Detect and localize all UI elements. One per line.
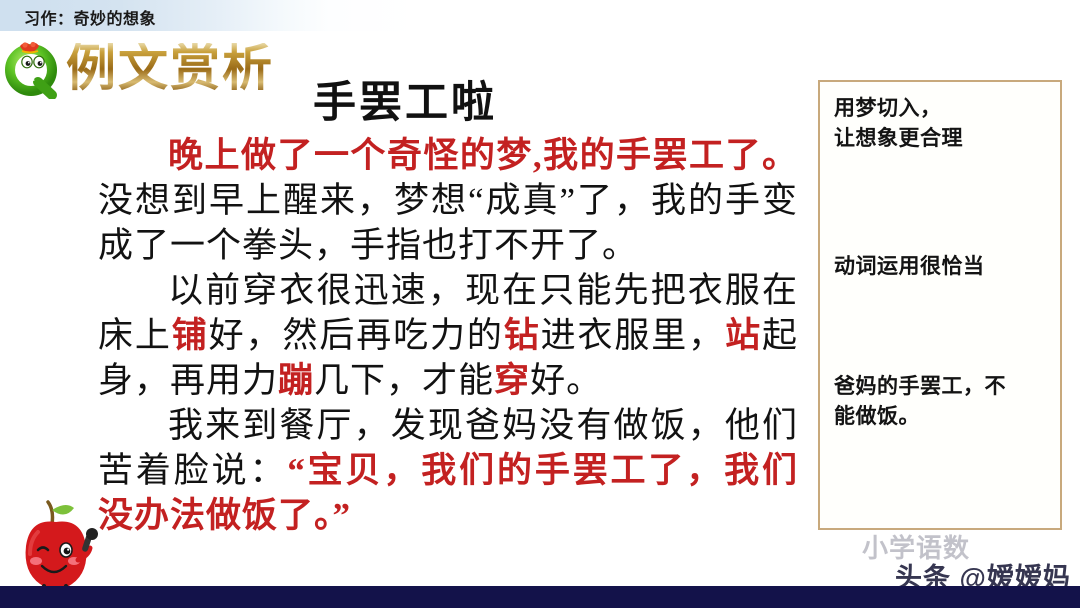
slide-canvas: 习作：奇妙的想象 <box>0 0 1080 608</box>
essay-run-highlight: 晚上做了一个奇怪的梦,我的手罢工了。 <box>168 136 798 175</box>
essay-title: 手罢工啦 <box>0 68 810 130</box>
top-banner: 习作：奇妙的想象 <box>0 0 1080 31</box>
essay-run-plain: 好，然后再吃力的 <box>209 316 504 355</box>
essay-run-plain: 好。 <box>530 361 602 400</box>
essay-run-plain: 进衣服里， <box>541 316 725 355</box>
essay-paragraph: 我来到餐厅，发现爸妈没有做饭，他们苦着脸说：“宝贝，我们的手罢工了，我们没办法做… <box>98 403 798 538</box>
annotation-item-1: 用梦切入， 让想象更合理 <box>834 94 1050 154</box>
annotation-item-2: 动词运用很恰当 <box>834 252 1050 282</box>
essay-body: 晚上做了一个奇怪的梦,我的手罢工了。没想到早上醒来，梦想“成真”了，我的手变成了… <box>98 133 798 538</box>
essay-run-highlight: 穿 <box>494 361 530 400</box>
essay-paragraph: 以前穿衣很迅速，现在只能先把衣服在床上铺好，然后再吃力的钻进衣服里，站起身，再用… <box>98 268 798 403</box>
bottom-strip <box>0 586 1080 608</box>
annotation-box: 用梦切入， 让想象更合理 动词运用很恰当 爸妈的手罢工，不 能做饭。 <box>818 80 1062 530</box>
essay-run-plain: 几下，才能 <box>314 361 494 400</box>
essay-run-highlight: 钻 <box>504 316 541 355</box>
essay-run-highlight: 蹦 <box>278 361 314 400</box>
annotation-item-3: 爸妈的手罢工，不 能做饭。 <box>834 372 1050 432</box>
apple-mascot-with-microphone-icon <box>8 490 104 600</box>
essay-run-highlight: 站 <box>725 316 762 355</box>
essay-paragraph: 晚上做了一个奇怪的梦,我的手罢工了。没想到早上醒来，梦想“成真”了，我的手变成了… <box>98 133 798 268</box>
essay-run-plain: 没想到早上醒来，梦想“成真”了，我的手变成了一个拳头，手指也打不开了。 <box>98 181 798 265</box>
lesson-topic-label: 习作：奇妙的想象 <box>24 5 156 29</box>
essay-run-highlight: 铺 <box>172 316 209 355</box>
